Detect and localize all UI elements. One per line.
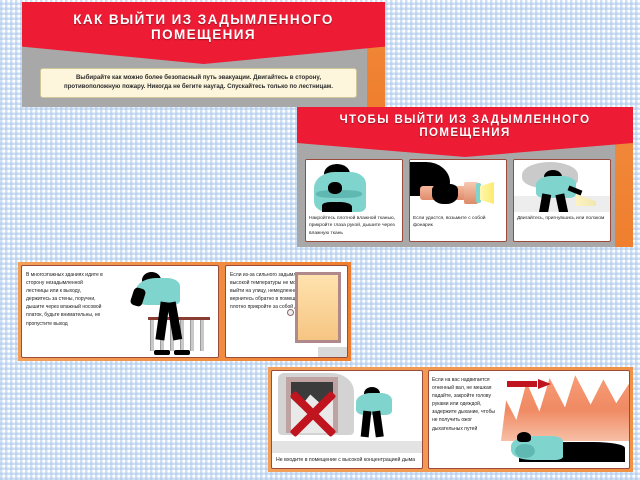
banner-mid-title: ЧТОБЫ ВЫЙТИ ИЗ ЗАДЫМЛЕННОГО ПОМЕЩЕНИЯ — [297, 114, 633, 140]
hand-holding-flashlight-icon — [410, 160, 506, 212]
person-crouching-with-light-icon — [514, 160, 610, 212]
card-move-crouching: Двигайтесь, пригнувшись или ползком — [513, 159, 611, 242]
panel-fire-wave: Если на вас надвигается огненный вал, не… — [428, 370, 630, 469]
door-knob-icon — [287, 309, 294, 316]
panel-stairway-guidance: В многоэтажных зданиях идите в сторону н… — [21, 265, 219, 358]
closed-door-icon — [318, 266, 347, 357]
panel-close-the-door: Если из-за сильного задымления и высокой… — [225, 265, 348, 358]
banner-top-title: КАК ВЫЙТИ ИЗ ЗАДЫМЛЕННОГО ПОМЕЩЕНИЯ — [22, 12, 385, 42]
bottom-row: Не входите в помещение с высокой концент… — [268, 367, 633, 472]
panel-do-not-enter-caption: Не входите в помещение с высокой концент… — [272, 453, 422, 468]
red-arrow-icon — [507, 379, 551, 388]
card-move-crouching-caption: Двигайтесь, пригнувшись или ползком — [514, 212, 610, 241]
banner-top: КАК ВЫЙТИ ИЗ ЗАДЫМЛЕННОГО ПОМЕЩЕНИЯ Выби… — [22, 2, 385, 107]
banner-mid: ЧТОБЫ ВЫЙТИ ИЗ ЗАДЫМЛЕННОГО ПОМЕЩЕНИЯ На… — [297, 107, 633, 247]
person-at-stair-railing-icon — [108, 266, 218, 357]
card-cover-with-cloth-caption: Накройтесь плотной влажной тканью, прикр… — [306, 212, 402, 241]
slide-canvas: КАК ВЫЙТИ ИЗ ЗАДЫМЛЕННОГО ПОМЕЩЕНИЯ Выби… — [0, 0, 640, 480]
mid-row: В многоэтажных зданиях идите в сторону н… — [18, 262, 351, 361]
panel-fire-wave-text: Если на вас надвигается огненный вал, не… — [429, 371, 501, 468]
person-lying-down-before-fire-wave-icon — [501, 371, 629, 468]
card-take-flashlight: Если удастся, возьмите с собой фонарик — [409, 159, 507, 242]
banner-top-note-text: Выбирайте как можно более безопасный пут… — [47, 74, 350, 92]
person-covered-with-cloth-icon — [306, 160, 402, 212]
banner-top-note-box: Выбирайте как можно более безопасный пут… — [40, 68, 357, 98]
card-take-flashlight-caption: Если удастся, возьмите с собой фонарик — [410, 212, 506, 241]
red-cross-icon — [284, 385, 342, 443]
card-cover-with-cloth: Накройтесь плотной влажной тканью, прикр… — [305, 159, 403, 242]
panel-stairway-text: В многоэтажных зданиях идите в сторону н… — [22, 266, 108, 357]
crossed-out-smoky-doorway-icon — [272, 371, 422, 453]
door-frame — [295, 272, 341, 343]
door-leaf — [298, 275, 338, 340]
banner-mid-card-list: Накройтесь плотной влажной тканью, прикр… — [305, 159, 611, 242]
panel-do-not-enter-smoke: Не входите в помещение с высокой концент… — [271, 370, 423, 469]
